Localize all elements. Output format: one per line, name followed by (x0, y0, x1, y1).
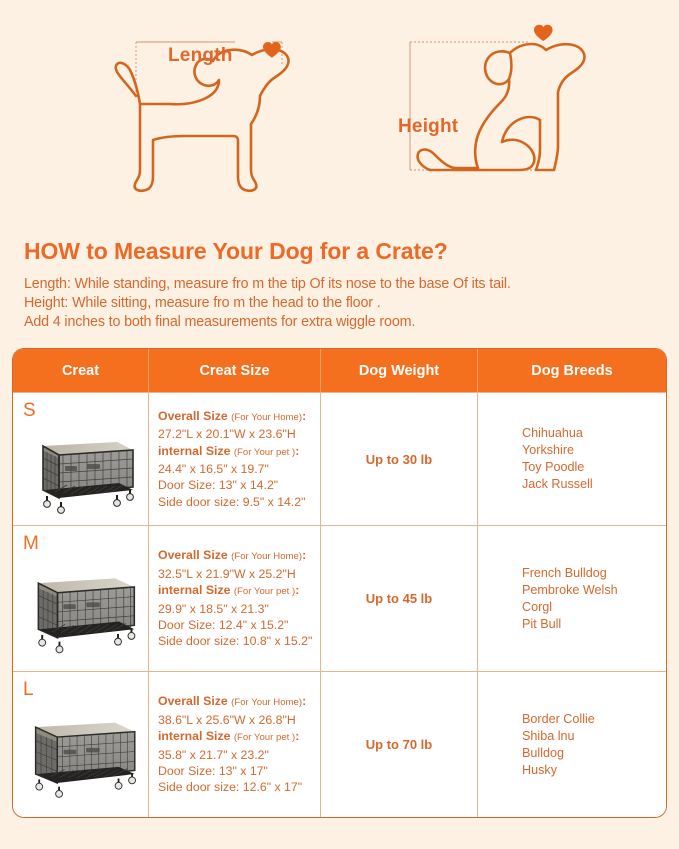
spec-line: 32.5"L x 21.9"W x 25.2"H (158, 566, 316, 582)
crate-cell: L (13, 672, 149, 817)
dog-breeds-cell: Chihuahua Yorkshire Toy Poodle Jack Russ… (478, 393, 666, 525)
spec-line: 24.4" x 16.5" x 19.7" (158, 461, 316, 477)
weight-value: Up to 45 lb (366, 591, 432, 606)
spec-line: Door Size: 13" x 17" (158, 763, 316, 779)
breed-item: Yorkshire (522, 442, 666, 459)
breed-item: Chihuahua (522, 425, 666, 442)
crate-size-cell: Overall Size (For Your Home): 27.2"L x 2… (149, 393, 321, 525)
length-label: Length (168, 45, 233, 67)
weight-value: Up to 30 lb (366, 452, 432, 467)
spec-line: Side door size: 9.5" x 14.2" (158, 494, 316, 510)
measurement-diagrams: Length Height (0, 0, 679, 222)
crate-size-cell: Overall Size (For Your Home): 38.6"L x 2… (149, 672, 321, 817)
dog-crate-photo-large (23, 701, 142, 811)
table-row: M (13, 525, 666, 671)
column-header-dog-weight: Dog Weight (321, 349, 478, 392)
breed-item: Husky (522, 762, 666, 779)
table-row: S (13, 392, 666, 525)
crate-size-table: Creat Creat Size Dog Weight Dog Breeds S (12, 348, 667, 818)
dog-weight-cell: Up to 30 lb (321, 393, 478, 525)
breed-item: Shiba lnu (522, 728, 666, 745)
spec-line: internal Size (For Your pet ): (158, 582, 316, 600)
column-header-dog-breeds: Dog Breeds (478, 349, 666, 392)
breed-item: Border Collie (522, 711, 666, 728)
spec-line: Overall Size (For Your Home): (158, 547, 316, 565)
weight-value: Up to 70 lb (366, 737, 432, 752)
dog-crate-photo-small (23, 422, 142, 519)
heart-icon (534, 25, 553, 41)
headline-section: HOW to Measure Your Dog for a Crate? Len… (0, 238, 679, 332)
breed-item: Toy Poodle (522, 459, 666, 476)
column-header-creat-size: Creat Size (149, 349, 321, 392)
instruction-line-3: Add 4 inches to both final measurements … (24, 313, 655, 332)
height-label: Height (398, 116, 458, 138)
spec-line: 38.6"L x 25.6"W x 26.8"H (158, 712, 316, 728)
heart-icon (263, 42, 281, 58)
breed-item: French Bulldog (522, 565, 666, 582)
table-header-row: Creat Creat Size Dog Weight Dog Breeds (13, 349, 666, 392)
dog-breeds-cell: French Bulldog Pembroke Welsh Corgl Pit … (478, 526, 666, 671)
height-diagram: Height (378, 0, 628, 222)
spec-line: Side door size: 10.8" x 15.2" (158, 633, 316, 649)
size-letter: M (23, 534, 142, 553)
spec-line: Door Size: 12.4" x 15.2" (158, 617, 316, 633)
size-letter: L (23, 680, 142, 699)
dog-weight-cell: Up to 45 lb (321, 526, 478, 671)
dog-standing-outline-icon (100, 0, 330, 200)
spec-line: Side door size: 12.6" x 17" (158, 779, 316, 795)
spec-line: 27.2"L x 20.1"W x 23.6"H (158, 426, 316, 442)
length-diagram: Length (100, 0, 330, 222)
crate-size-cell: Overall Size (For Your Home): 32.5"L x 2… (149, 526, 321, 671)
spec-line: Door Size: 13" x 14.2" (158, 477, 316, 493)
table-row: L (13, 671, 666, 817)
spec-line: internal Size (For Your pet ): (158, 443, 316, 461)
spec-line: 35.8" x 21.7" x 23.2" (158, 747, 316, 763)
dog-breeds-cell: Border Collie Shiba lnu Bulldog Husky (478, 672, 666, 817)
page-title: HOW to Measure Your Dog for a Crate? (24, 238, 655, 265)
instruction-line-1: Length: While standing, measure fro m th… (24, 275, 655, 294)
dog-weight-cell: Up to 70 lb (321, 672, 478, 817)
breed-item: Corgl (522, 599, 666, 616)
spec-line: Overall Size (For Your Home): (158, 693, 316, 711)
breed-item: Bulldog (522, 745, 666, 762)
breed-item: Pembroke Welsh (522, 582, 666, 599)
crate-cell: M (13, 526, 149, 671)
size-letter: S (23, 401, 142, 420)
spec-line: Overall Size (For Your Home): (158, 408, 316, 426)
crate-cell: S (13, 393, 149, 525)
column-header-creat: Creat (13, 349, 149, 392)
spec-line: 29.9" x 18.5" x 21.3" (158, 601, 316, 617)
breed-item: Pit Bull (522, 616, 666, 633)
dog-sitting-outline-icon (378, 0, 628, 200)
breed-item: Jack Russell (522, 476, 666, 493)
instruction-line-2: Height: While sitting, measure fro m the… (24, 294, 655, 313)
spec-line: internal Size (For Your pet ): (158, 728, 316, 746)
dog-crate-photo-medium (23, 555, 142, 665)
